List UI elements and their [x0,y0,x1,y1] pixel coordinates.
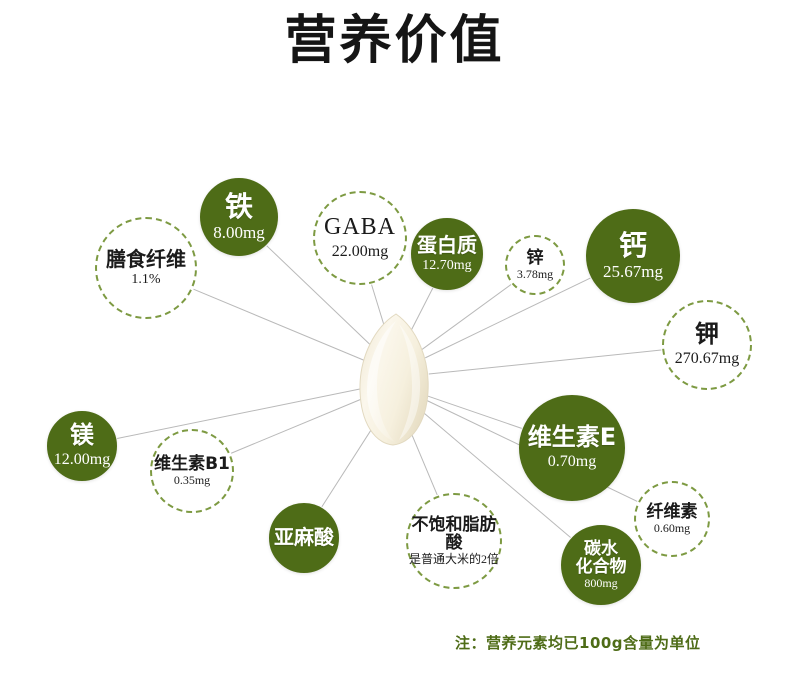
nutrient-value-potassium: 270.67mg [675,350,739,367]
connector-line-magnesium [117,389,362,439]
nutrient-value-dietary-fiber: 1.1% [131,272,160,287]
nutrient-node-vitamin-e[interactable]: 维生素E0.70mg [519,395,625,501]
nutrient-node-magnesium[interactable]: 镁12.00mg [47,411,117,481]
nutrient-node-cellulose[interactable]: 纤维素0.60mg [634,481,710,557]
nutrient-node-dietary-fiber[interactable]: 膳食纤维1.1% [95,217,197,319]
nutrient-node-iron[interactable]: 铁8.00mg [200,178,278,256]
nutrient-name-vitamin-b1: 维生素B1 [154,455,230,473]
nutrient-name-potassium: 钾 [695,322,719,348]
connector-line-vitamin-e [427,396,522,429]
nutrient-value-cellulose: 0.60mg [654,522,690,535]
nutrient-value-gaba: 22.00mg [332,243,388,260]
nutrient-value-vitamin-e: 0.70mg [548,453,596,470]
nutrient-value-magnesium: 12.00mg [54,451,110,468]
nutrient-node-unsaturated-fatty-acid[interactable]: 不饱和脂肪酸是普通大米的2倍 [406,493,502,589]
nutrient-name-calcium: 钙 [619,231,647,261]
nutrient-node-linolenic-acid[interactable]: 亚麻酸 [269,503,339,573]
nutrient-node-vitamin-b1[interactable]: 维生素B10.35mg [150,429,234,513]
footnote: 注：营养元素均已100g含量为单位 [455,632,775,653]
nutrient-value-unsaturated-fatty-acid: 是普通大米的2倍 [409,553,499,566]
nutrient-value-protein: 12.70mg [422,258,471,273]
nutrient-node-gaba[interactable]: GABA22.00mg [313,191,407,285]
nutrient-value-vitamin-b1: 0.35mg [174,474,210,487]
nutrient-node-calcium[interactable]: 钙25.67mg [586,209,680,303]
connector-line-potassium [429,350,661,374]
nutrient-name-dietary-fiber: 膳食纤维 [106,249,186,271]
nutrient-value-carbohydrate: 800mg [584,577,617,590]
nutrient-node-carbohydrate[interactable]: 碳水 化合物800mg [561,525,641,605]
nutrient-name-zinc: 锌 [527,249,544,267]
rice-grain-icon [355,312,435,447]
nutrient-name-linolenic-acid: 亚麻酸 [274,527,334,549]
nutrient-name-gaba: GABA [324,215,396,241]
nutrient-node-protein[interactable]: 蛋白质12.70mg [411,218,483,290]
nutrient-node-zinc[interactable]: 锌3.78mg [505,235,565,295]
connector-line-dietary-fiber [193,289,363,360]
nutrient-node-potassium[interactable]: 钾270.67mg [662,300,752,390]
connector-line-calcium [425,278,590,358]
nutrient-name-iron: 铁 [225,192,253,222]
nutrient-name-vitamin-e: 维生素E [528,425,616,451]
nutrient-name-unsaturated-fatty-acid: 不饱和脂肪酸 [408,516,500,553]
nutrient-name-carbohydrate: 碳水 化合物 [576,540,627,577]
nutrient-value-calcium: 25.67mg [603,263,663,281]
nutrient-name-cellulose: 纤维素 [647,503,698,521]
nutrient-value-iron: 8.00mg [213,224,264,242]
nutrient-value-zinc: 3.78mg [517,268,553,281]
nutrition-diagram: 膳食纤维1.1%铁8.00mgGABA22.00mg蛋白质12.70mg锌3.7… [0,0,789,692]
nutrient-name-magnesium: 镁 [70,423,94,449]
connector-line-vitamin-b1 [231,398,364,453]
nutrient-name-protein: 蛋白质 [417,235,477,257]
